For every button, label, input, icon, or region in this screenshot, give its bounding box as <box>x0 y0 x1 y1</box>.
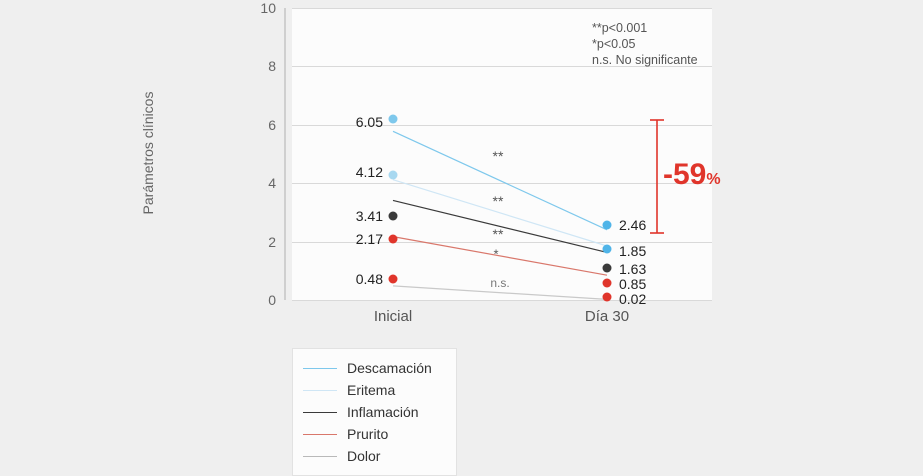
legend-label-prurito: Prurito <box>347 426 388 442</box>
point-eritema-inicial <box>389 171 398 180</box>
legend-label-inflamacion: Inflamación <box>347 404 419 420</box>
label-dolor-dia30: 0.02 <box>619 291 646 307</box>
y-tick-0: 0 <box>240 292 276 308</box>
legend-label-dolor: Dolor <box>347 448 380 464</box>
gridline-4 <box>292 183 712 184</box>
point-dolor-dia30 <box>603 293 612 302</box>
label-dolor-inicial: 0.48 <box>356 271 383 287</box>
chart-legend: Descamación Eritema Inflamación Prurito … <box>292 348 457 476</box>
clinical-parameters-chart: 10 8 6 4 2 0 Parámetros clínicos 6.05 4.… <box>0 0 923 465</box>
label-inflamacion-inicial: 3.41 <box>356 208 383 224</box>
significance-inflamacion: ** <box>493 226 504 242</box>
legend-swatch-dolor-icon <box>303 456 337 457</box>
label-eritema-inicial: 4.12 <box>356 164 383 180</box>
legend-item-prurito: Prurito <box>303 423 446 445</box>
label-descamacion-dia30: 2.46 <box>619 217 646 233</box>
highlight-percentage: -59% <box>663 158 721 192</box>
legend-swatch-prurito-icon <box>303 434 337 435</box>
gridline-10 <box>292 8 712 9</box>
point-dolor-inicial <box>389 275 398 284</box>
y-axis-ticks: 10 8 6 4 2 0 <box>236 8 276 300</box>
significance-prurito: * <box>493 247 498 262</box>
y-axis-line <box>284 8 286 300</box>
label-eritema-dia30: 1.85 <box>619 243 646 259</box>
significance-descamacion: ** <box>493 148 504 164</box>
point-prurito-dia30 <box>603 279 612 288</box>
pvalue-note: **p<0.001 *p<0.05 n.s. No significante <box>592 20 698 68</box>
y-axis-title: Parámetros clínicos <box>140 43 156 263</box>
significance-eritema: ** <box>493 193 504 209</box>
y-tick-6: 6 <box>240 117 276 133</box>
legend-item-inflamacion: Inflamación <box>303 401 446 423</box>
point-eritema-dia30 <box>603 245 612 254</box>
point-descamacion-dia30 <box>603 221 612 230</box>
point-descamacion-inicial <box>389 115 398 124</box>
highlight-unit: % <box>706 171 720 188</box>
x-tick-inicial: Inicial <box>374 308 412 325</box>
point-prurito-inicial <box>389 235 398 244</box>
legend-item-eritema: Eritema <box>303 379 446 401</box>
y-tick-2: 2 <box>240 234 276 250</box>
x-tick-dia30: Día 30 <box>585 308 629 325</box>
y-tick-4: 4 <box>240 175 276 191</box>
legend-swatch-inflamacion-icon <box>303 412 337 413</box>
legend-swatch-descamacion-icon <box>303 368 337 369</box>
highlight-value: -59 <box>663 158 706 191</box>
legend-item-dolor: Dolor <box>303 445 446 467</box>
label-inflamacion-dia30: 1.63 <box>619 261 646 277</box>
legend-label-descamacion: Descamación <box>347 360 432 376</box>
point-inflamacion-inicial <box>389 212 398 221</box>
label-prurito-dia30: 0.85 <box>619 276 646 292</box>
significance-dolor: n.s. <box>490 276 509 290</box>
label-descamacion-inicial: 6.05 <box>356 114 383 130</box>
y-tick-8: 8 <box>240 58 276 74</box>
legend-swatch-eritema-icon <box>303 390 337 391</box>
legend-label-eritema: Eritema <box>347 382 395 398</box>
gridline-0 <box>292 300 712 301</box>
label-prurito-inicial: 2.17 <box>356 231 383 247</box>
point-inflamacion-dia30 <box>603 264 612 273</box>
legend-item-descamacion: Descamación <box>303 357 446 379</box>
y-tick-10: 10 <box>240 0 276 16</box>
